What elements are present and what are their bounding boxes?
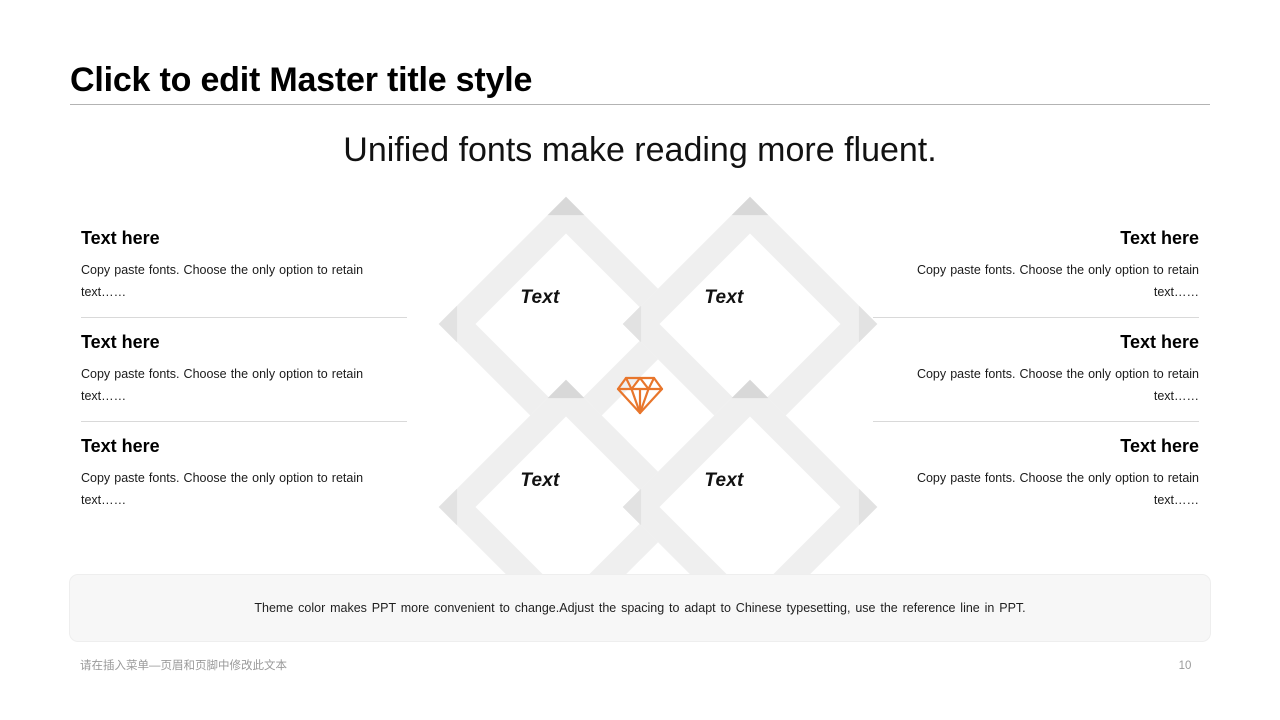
diamond-diagram: Text Text Text: [447, 205, 833, 585]
diamond-cell-label: Text: [631, 205, 817, 391]
right-text-column: Text here Copy paste fonts. Choose the o…: [873, 214, 1199, 525]
block-heading: Text here: [873, 214, 1199, 250]
text-block[interactable]: Text here Copy paste fonts. Choose the o…: [873, 318, 1199, 421]
slide-canvas: Click to edit Master title style Unified…: [0, 0, 1280, 720]
diamond-cell-top-left[interactable]: Text: [447, 205, 633, 391]
banner-text: Theme color makes PPT more convenient to…: [224, 598, 1055, 618]
diamond-cell-label: Text: [447, 388, 633, 574]
block-body: Copy paste fonts. Choose the only option…: [81, 467, 407, 525]
diamond-gem-icon: [616, 374, 664, 416]
block-body: Copy paste fonts. Choose the only option…: [81, 363, 407, 421]
diamond-cell-label: Text: [447, 205, 633, 391]
ribbon-fold-icon: [841, 306, 878, 343]
block-heading: Text here: [81, 422, 407, 458]
block-heading: Text here: [873, 422, 1199, 458]
block-heading: Text here: [873, 318, 1199, 354]
block-body: Copy paste fonts. Choose the only option…: [873, 259, 1199, 317]
diamond-cell-bottom-left[interactable]: Text: [447, 388, 633, 574]
diamond-cell-top-right[interactable]: Text: [631, 205, 817, 391]
block-heading: Text here: [81, 318, 407, 354]
block-body: Copy paste fonts. Choose the only option…: [81, 259, 407, 317]
bottom-note-banner[interactable]: Theme color makes PPT more convenient to…: [69, 574, 1211, 642]
block-heading: Text here: [81, 214, 407, 250]
text-block[interactable]: Text here Copy paste fonts. Choose the o…: [873, 214, 1199, 317]
text-block[interactable]: Text here Copy paste fonts. Choose the o…: [81, 318, 407, 421]
block-body: Copy paste fonts. Choose the only option…: [873, 363, 1199, 421]
ribbon-fold-icon: [841, 489, 878, 526]
title-placeholder[interactable]: Click to edit Master title style: [70, 58, 1210, 102]
page-title: Click to edit Master title style: [70, 58, 1210, 102]
left-text-column: Text here Copy paste fonts. Choose the o…: [81, 214, 407, 525]
footer-note: 请在插入菜单—页眉和页脚中修改此文本: [80, 658, 287, 674]
text-block[interactable]: Text here Copy paste fonts. Choose the o…: [873, 422, 1199, 525]
block-body: Copy paste fonts. Choose the only option…: [873, 467, 1199, 525]
text-block[interactable]: Text here Copy paste fonts. Choose the o…: [81, 422, 407, 525]
page-number: 10: [1160, 658, 1210, 674]
text-block[interactable]: Text here Copy paste fonts. Choose the o…: [81, 214, 407, 317]
slide-subtitle: Unified fonts make reading more fluent.: [0, 128, 1280, 172]
title-underline-rule: [70, 104, 1210, 105]
